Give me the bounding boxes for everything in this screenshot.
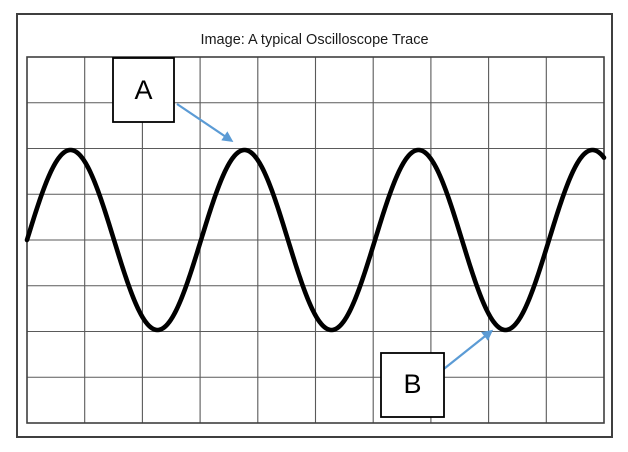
figure-title: Image: A typical Oscilloscope Trace xyxy=(200,32,428,48)
callout-label-a-text: A xyxy=(134,75,152,105)
callout-label-b-text: B xyxy=(403,369,421,399)
figure-canvas: Image: A typical Oscilloscope Trace AB xyxy=(0,0,628,452)
oscilloscope-figure: Image: A typical Oscilloscope Trace AB xyxy=(0,0,628,452)
figure-background xyxy=(0,0,628,452)
